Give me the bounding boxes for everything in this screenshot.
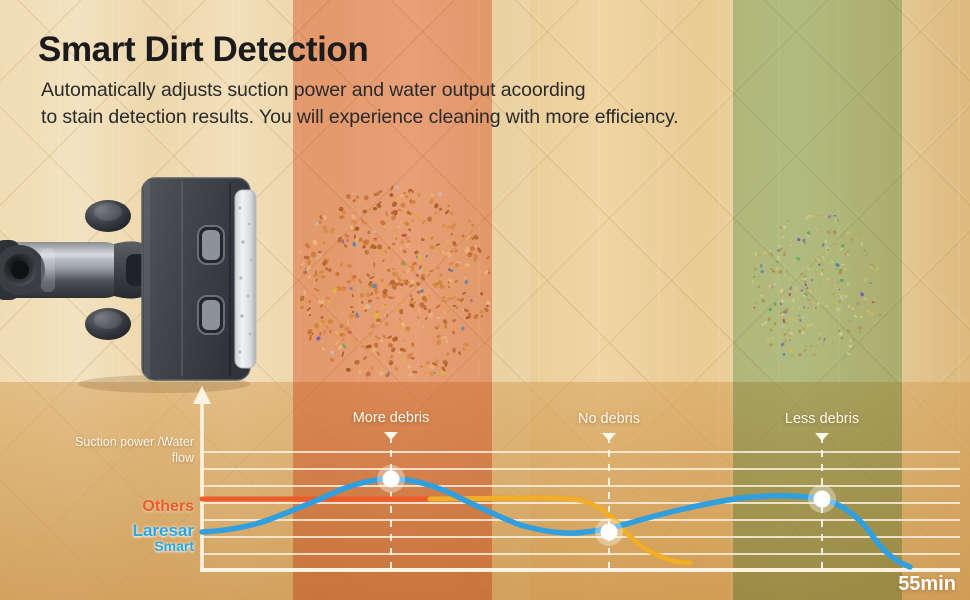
zone-label-less-debris: Less debris <box>785 411 859 427</box>
zone-pointer-no-debris-icon <box>602 433 616 441</box>
poster-canvas: Suction power /Water flow Others Laresar… <box>0 0 970 600</box>
legend-smart-label: Smart <box>100 538 194 554</box>
page-subtitle: Automatically adjusts suction power and … <box>41 77 679 131</box>
legend-others-label: Others <box>120 498 194 516</box>
zone-pointer-more-debris-icon <box>384 432 398 440</box>
zone-label-more-debris: More debris <box>353 410 430 426</box>
vacuum-cleaner-head-illustration <box>0 168 276 393</box>
y-axis-label: Suction power /Water flow <box>62 434 194 466</box>
chart-data-markers <box>377 465 836 546</box>
y-axis-arrow-icon <box>193 386 211 404</box>
x-axis-time-label: 55min <box>898 573 956 596</box>
zone-label-no-debris: No debris <box>578 411 640 427</box>
page-title: Smart Dirt Detection <box>38 30 368 70</box>
zone-pointer-less-debris-icon <box>815 433 829 441</box>
